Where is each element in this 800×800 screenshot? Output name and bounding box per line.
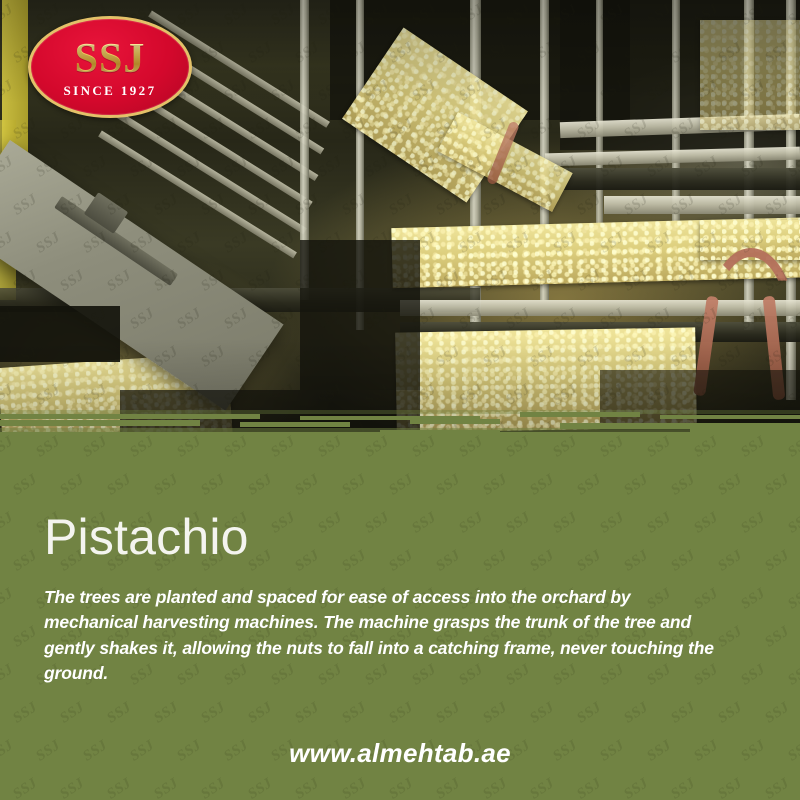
- photo-dark-foreground: [0, 306, 120, 362]
- photo-nut-bed: [700, 20, 800, 130]
- photo-dark-foreground: [300, 240, 420, 390]
- photo-dark-foreground: [600, 370, 800, 430]
- photo-beam-dark: [560, 168, 800, 190]
- ssj-logo[interactable]: SSJ SINCE 1927: [28, 16, 192, 118]
- page-title: Pistachio: [44, 512, 756, 563]
- pistachio-info-card: SSJSSJSSJSSJSSJSSJSSJSSJSSJSSJSSJSSJSSJS…: [0, 0, 800, 800]
- photo-beam: [604, 196, 800, 214]
- content-block: Pistachio The trees are planted and spac…: [44, 512, 756, 687]
- logo-mark-text: SSJ: [75, 38, 146, 80]
- description-paragraph: The trees are planted and spaced for eas…: [44, 585, 716, 687]
- logo-tagline: SINCE 1927: [64, 83, 157, 99]
- website-url[interactable]: www.almehtab.ae: [0, 738, 800, 769]
